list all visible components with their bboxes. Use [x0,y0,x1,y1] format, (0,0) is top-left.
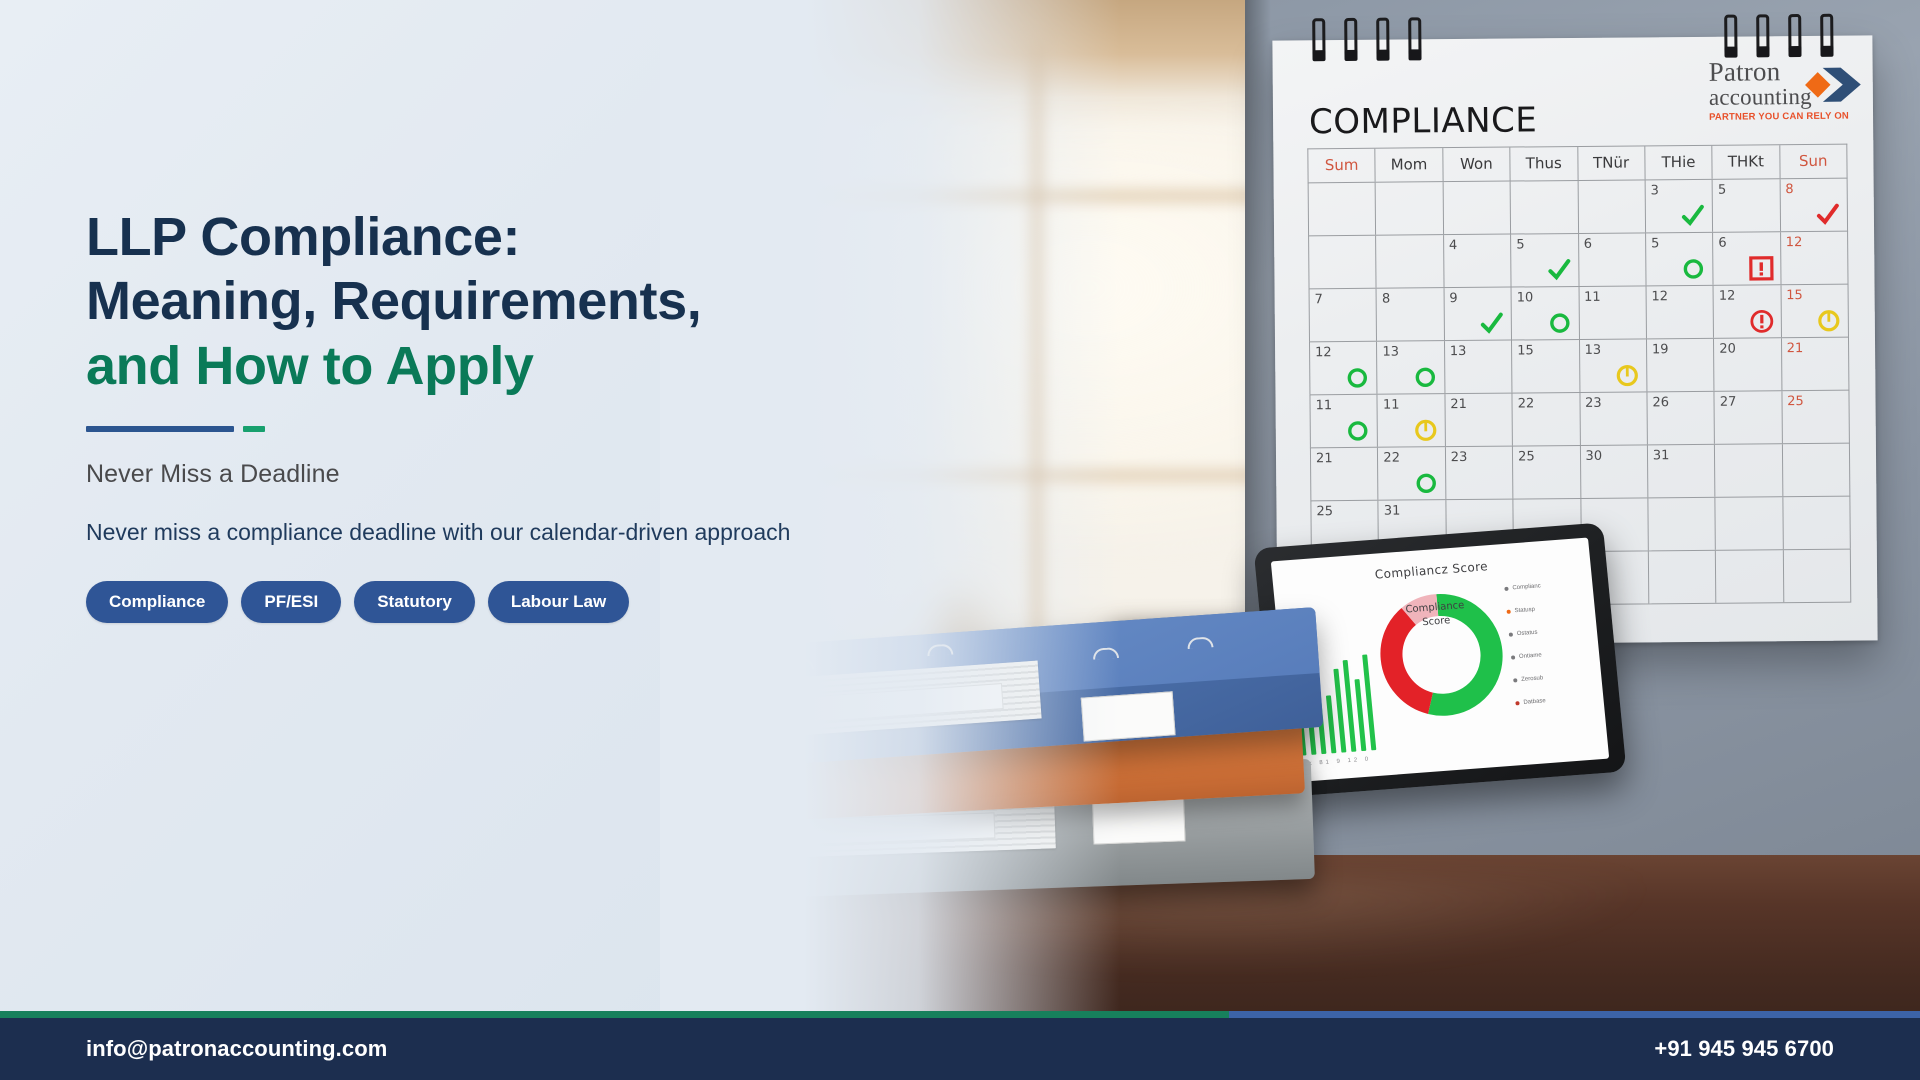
calendar-day-cell: 10 [1512,287,1580,340]
calendar-spiral-ring [1376,18,1389,58]
divider-bar-blue [86,426,234,432]
calendar-spiral-ring [1312,18,1325,58]
legend-swatch [1515,701,1519,705]
calendar-day-cell: 25 [1513,446,1581,499]
legend-item: Ontiame [1511,649,1589,661]
legend-item: Complianc [1504,580,1582,592]
calendar-day-cell [1715,444,1783,497]
legend-label: Ostatus [1517,630,1538,638]
calendar-day-cell: 5 [1713,179,1781,232]
tag-list: CompliancePF/ESIStatutoryLabour Law [86,581,876,623]
chart-legend: CompliancStatuspOstatusOntiameZerosubDat… [1504,580,1595,723]
alert-box-red-icon [1748,255,1774,281]
clock-yellow-icon [1614,362,1640,388]
calendar-day-cell: 30 [1580,445,1648,498]
calendar-day-cell: 3 [1645,180,1713,233]
calendar-spiral-ring [1788,14,1801,54]
donut-center-line2: Score [1422,615,1451,628]
calendar-spiral-ring [1344,18,1357,58]
calendar-day-header: THKt [1713,145,1781,179]
legend-label: Datbase [1523,698,1546,706]
calendar-day-cell: 15 [1512,340,1580,393]
calendar-day-cell: 15 [1781,285,1848,338]
tag-pill[interactable]: Compliance [86,581,228,623]
calendar-day-cell: 25 [1782,391,1849,444]
calendar-day-cell: 19 [1647,339,1715,392]
calendar-day-cell: 13 [1445,341,1513,394]
calendar-week-row: 358 [1308,178,1848,236]
calendar-day-cell: 22 [1513,393,1581,446]
legend-label: Statusp [1514,607,1535,614]
calendar-day-cell [1716,550,1784,603]
calendar-week-row: 4565612 [1308,231,1848,289]
alert-circle-red-icon [1748,308,1774,334]
calendar-spiral-ring [1756,14,1769,54]
calendar-day-cell: 22 [1378,447,1446,500]
tag-pill[interactable]: PF/ESI [241,581,341,623]
calendar-day-cell: 6 [1579,233,1647,286]
clock-yellow-icon [1816,308,1842,334]
legend-swatch [1513,678,1517,682]
legend-swatch [1504,587,1508,591]
calendar-spiral-ring [1724,15,1737,55]
check-red-icon [1815,202,1841,228]
divider-bar-green [243,426,265,432]
calendar-day-cell [1376,235,1444,288]
calendar-week-row: 1213131513192021 [1309,337,1849,395]
legend-item: Ostatus [1509,626,1587,638]
footer-bar: info@patronaccounting.com +91 945 945 67… [0,1018,1920,1080]
hero-content: LLP Compliance: Meaning, Requirements, a… [86,205,876,623]
calendar-day-cell: 11 [1579,286,1647,339]
subheading: Never Miss a Deadline [86,460,876,489]
legend-label: Ontiame [1519,652,1542,660]
calendar-day-cell [1783,444,1850,497]
calendar-day-cell: 21 [1782,338,1849,391]
calendar-day-cell: 6 [1713,232,1781,285]
calendar-day-header: Mom [1376,148,1444,182]
calendar-day-cell: 21 [1311,448,1379,501]
calendar-day-cell: 23 [1580,392,1648,445]
calendar-day-cell: 12 [1310,342,1378,395]
calendar-spiral-ring [1408,17,1421,57]
headline-line-1: LLP Compliance: [86,207,520,267]
clock-yellow-icon [1412,417,1438,443]
binder-ring-icon [1187,636,1214,649]
calendar-day-cell: 12 [1714,285,1782,338]
calendar-day-cell: 12 [1646,286,1714,339]
footer-accent-stripe [0,1011,1920,1018]
legend-swatch [1511,655,1515,659]
calendar-day-cell [1376,182,1444,235]
check-green-icon [1479,311,1505,337]
calendar-day-cell: 5 [1511,234,1579,287]
check-green-icon [1546,257,1572,283]
calendar-day-header-row: Sum Mom Won Thus TNür THie THKt Sun [1307,144,1847,183]
legend-swatch [1507,610,1511,614]
legend-item: Datbase [1515,695,1593,707]
calendar-week-row: 1111212223262725 [1309,390,1849,448]
calendar-day-header: Sun [1780,145,1847,179]
calendar-day-cell: 23 [1446,447,1514,500]
calendar-day-cell: 20 [1714,338,1782,391]
calendar-day-header: Won [1443,148,1511,182]
circle-green-icon [1412,364,1438,390]
calendar-day-cell [1783,497,1850,550]
calendar-day-cell: 27 [1715,391,1783,444]
calendar-day-cell [1309,183,1377,236]
patron-accounting-logo: Patron accounting PARTNER YOU CAN RELY O… [1709,58,1848,123]
calendar-day-cell: 31 [1648,445,1716,498]
legend-swatch [1509,632,1513,636]
calendar-day-cell: 8 [1377,288,1445,341]
calendar-day-cell [1649,551,1717,604]
calendar-day-cell [1648,498,1716,551]
tag-pill[interactable]: Labour Law [488,581,629,623]
circle-green-icon [1413,470,1439,496]
legend-item: Zerosub [1513,672,1591,684]
headline-line-3: and How to Apply [86,334,876,398]
calendar-week-row: 212223253031 [1310,443,1850,501]
calendar-day-cell: 11 [1310,395,1378,448]
calendar-day-cell: 12 [1781,232,1848,285]
calendar-week-row: 7891011121215 [1309,284,1849,342]
calendar-day-cell: 21 [1445,394,1513,447]
check-green-icon [1680,203,1706,229]
legend-label: Zerosub [1521,675,1544,683]
legend-label: Complianc [1512,583,1541,591]
calendar-day-cell: 5 [1646,233,1714,286]
calendar-day-cell: 8 [1780,179,1847,232]
footer-accent-blue [1229,1011,1920,1018]
calendar-day-cell: 13 [1579,339,1647,392]
calendar-day-cell: 11 [1378,394,1446,447]
tag-pill[interactable]: Statutory [354,581,475,623]
calendar-day-cell: 13 [1377,341,1445,394]
legend-item: Statusp [1506,603,1584,615]
circle-green-icon [1345,365,1371,391]
logo-chevron-icon [1803,61,1865,108]
circle-green-icon [1546,310,1572,336]
title-divider [86,426,876,432]
calendar-spiral-ring [1820,14,1833,54]
calendar-day-header: TNür [1578,146,1646,180]
calendar-day-cell [1309,236,1377,289]
calendar-day-cell [1716,497,1784,550]
circle-green-icon [1681,256,1707,282]
footer-email[interactable]: info@patronaccounting.com [86,1036,387,1062]
description-text: Never miss a compliance deadline with ou… [86,516,846,549]
calendar-day-cell: 26 [1647,392,1715,445]
page-title: LLP Compliance: Meaning, Requirements, a… [86,205,876,398]
headline-line-2: Meaning, Requirements, [86,271,701,331]
calendar-day-cell [1578,180,1646,233]
footer-accent-green [0,1011,1229,1018]
calendar-day-cell: 7 [1310,289,1378,342]
calendar-day-cell: 9 [1444,288,1512,341]
footer-phone[interactable]: +91 945 945 6700 [1654,1036,1834,1062]
calendar-day-header: THie [1645,146,1713,180]
calendar-day-header: Thus [1510,147,1578,181]
calendar-day-cell [1783,550,1850,603]
calendar-day-header: Sum [1308,149,1376,183]
logo-tagline: PARTNER YOU CAN RELY ON [1709,111,1847,123]
donut-center-line1: Compliance [1405,600,1465,615]
calendar-day-cell: 4 [1444,235,1512,288]
circle-green-icon [1345,418,1371,444]
calendar-day-cell [1511,181,1579,234]
calendar-title: COMPLIANCE [1309,100,1538,142]
calendar-day-cell [1443,182,1511,235]
hero-banner: COMPLIANCE Patron accounting PARTNER YOU… [0,0,1920,1080]
